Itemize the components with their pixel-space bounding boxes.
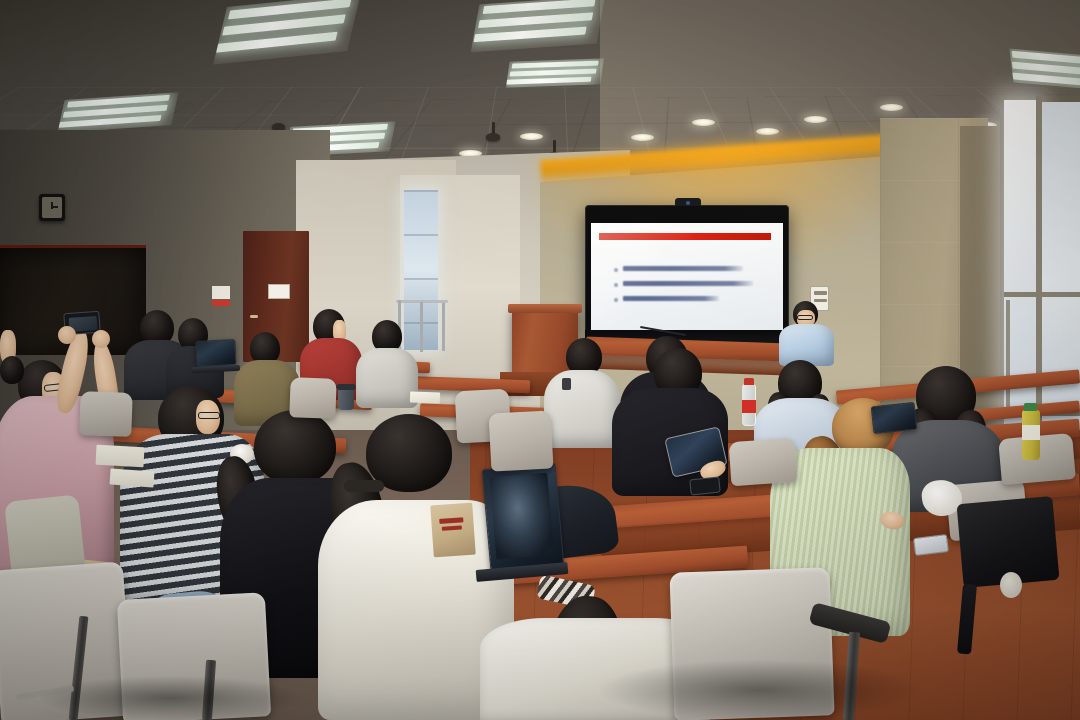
railing-post: [420, 302, 423, 352]
lectern-top: [508, 304, 582, 313]
presenter-body: [779, 324, 834, 366]
hand: [92, 330, 110, 348]
ceiling-light-panel: [506, 58, 604, 87]
wall-sign-red: [212, 300, 230, 306]
smartphone[interactable]: [689, 476, 721, 495]
travel-mug[interactable]: [338, 388, 354, 410]
chair[interactable]: [729, 438, 798, 486]
railing-post: [442, 303, 445, 351]
laptop[interactable]: [195, 339, 236, 367]
clock-hand-minute: [51, 206, 58, 208]
chair[interactable]: [79, 391, 133, 437]
chair[interactable]: [489, 410, 554, 471]
slide-line-3: [623, 296, 719, 301]
lecture-hall-photo: [0, 0, 1080, 720]
laptop-screen-content: [489, 473, 554, 560]
window-transom: [1004, 292, 1080, 297]
laptop[interactable]: [482, 463, 565, 573]
canvas-tote-bag: [430, 503, 476, 558]
hair-tie: [344, 480, 384, 492]
recessed-downlight: [631, 134, 654, 141]
bottle-cap: [1024, 403, 1037, 411]
ceiling-sensor: [486, 133, 500, 141]
bottle-label: [742, 400, 756, 413]
window-latch-rod: [1006, 300, 1010, 410]
slide-title-rule: [599, 233, 771, 240]
mug-lid: [336, 384, 356, 390]
recessed-downlight: [880, 104, 903, 111]
printed-handout: [410, 391, 440, 403]
interactive-display[interactable]: [585, 205, 789, 341]
printed-handout: [96, 445, 145, 467]
floor-shadow: [40, 676, 300, 720]
slide-bullet-icon: [614, 283, 618, 287]
slide-bullet-icon: [614, 268, 618, 272]
recessed-downlight: [756, 128, 779, 135]
bottle-label: [1022, 425, 1040, 440]
audience-glasses: [198, 412, 220, 419]
lectern: [512, 308, 578, 380]
floor-shadow: [600, 660, 920, 720]
door-notice-sign: [268, 284, 290, 299]
bag-charm: [1000, 572, 1022, 598]
laptop[interactable]: [871, 402, 918, 434]
printed-handout: [109, 468, 154, 487]
bottle-cap: [744, 378, 754, 385]
audience-head: [0, 356, 24, 384]
presenter-glasses: [797, 315, 813, 320]
chair[interactable]: [289, 377, 336, 419]
wall-sign: [212, 286, 230, 299]
audience-body: [356, 348, 418, 408]
slide-bullet-icon: [614, 298, 618, 302]
hand: [58, 326, 76, 344]
slide-line-1: [623, 266, 743, 271]
recessed-downlight: [692, 119, 715, 126]
audience-head: [254, 410, 336, 484]
recessed-downlight: [520, 133, 543, 140]
wall-clock: [39, 194, 65, 221]
slide-line-2: [623, 281, 753, 286]
presentation-slide: [591, 223, 783, 331]
display-webcam: [675, 198, 701, 206]
recessed-downlight: [804, 116, 827, 123]
audience-body: [544, 370, 620, 448]
door-handle[interactable]: [250, 315, 258, 318]
tee-graphic-letter: [562, 378, 571, 390]
